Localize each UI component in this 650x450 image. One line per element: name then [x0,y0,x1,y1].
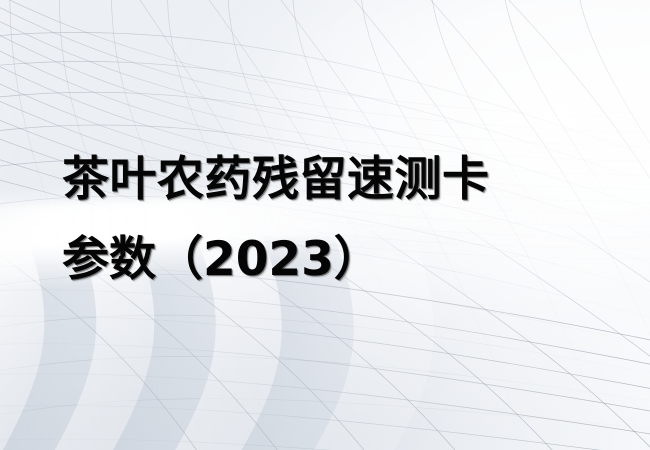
banner-title: 茶叶农药残留速测卡 参数（2023） [62,140,622,300]
title-line-2: 参数（2023） [62,220,622,300]
title-banner: 茶叶农药残留速测卡 参数（2023） [0,0,650,450]
title-line-1: 茶叶农药残留速测卡 [62,140,622,220]
